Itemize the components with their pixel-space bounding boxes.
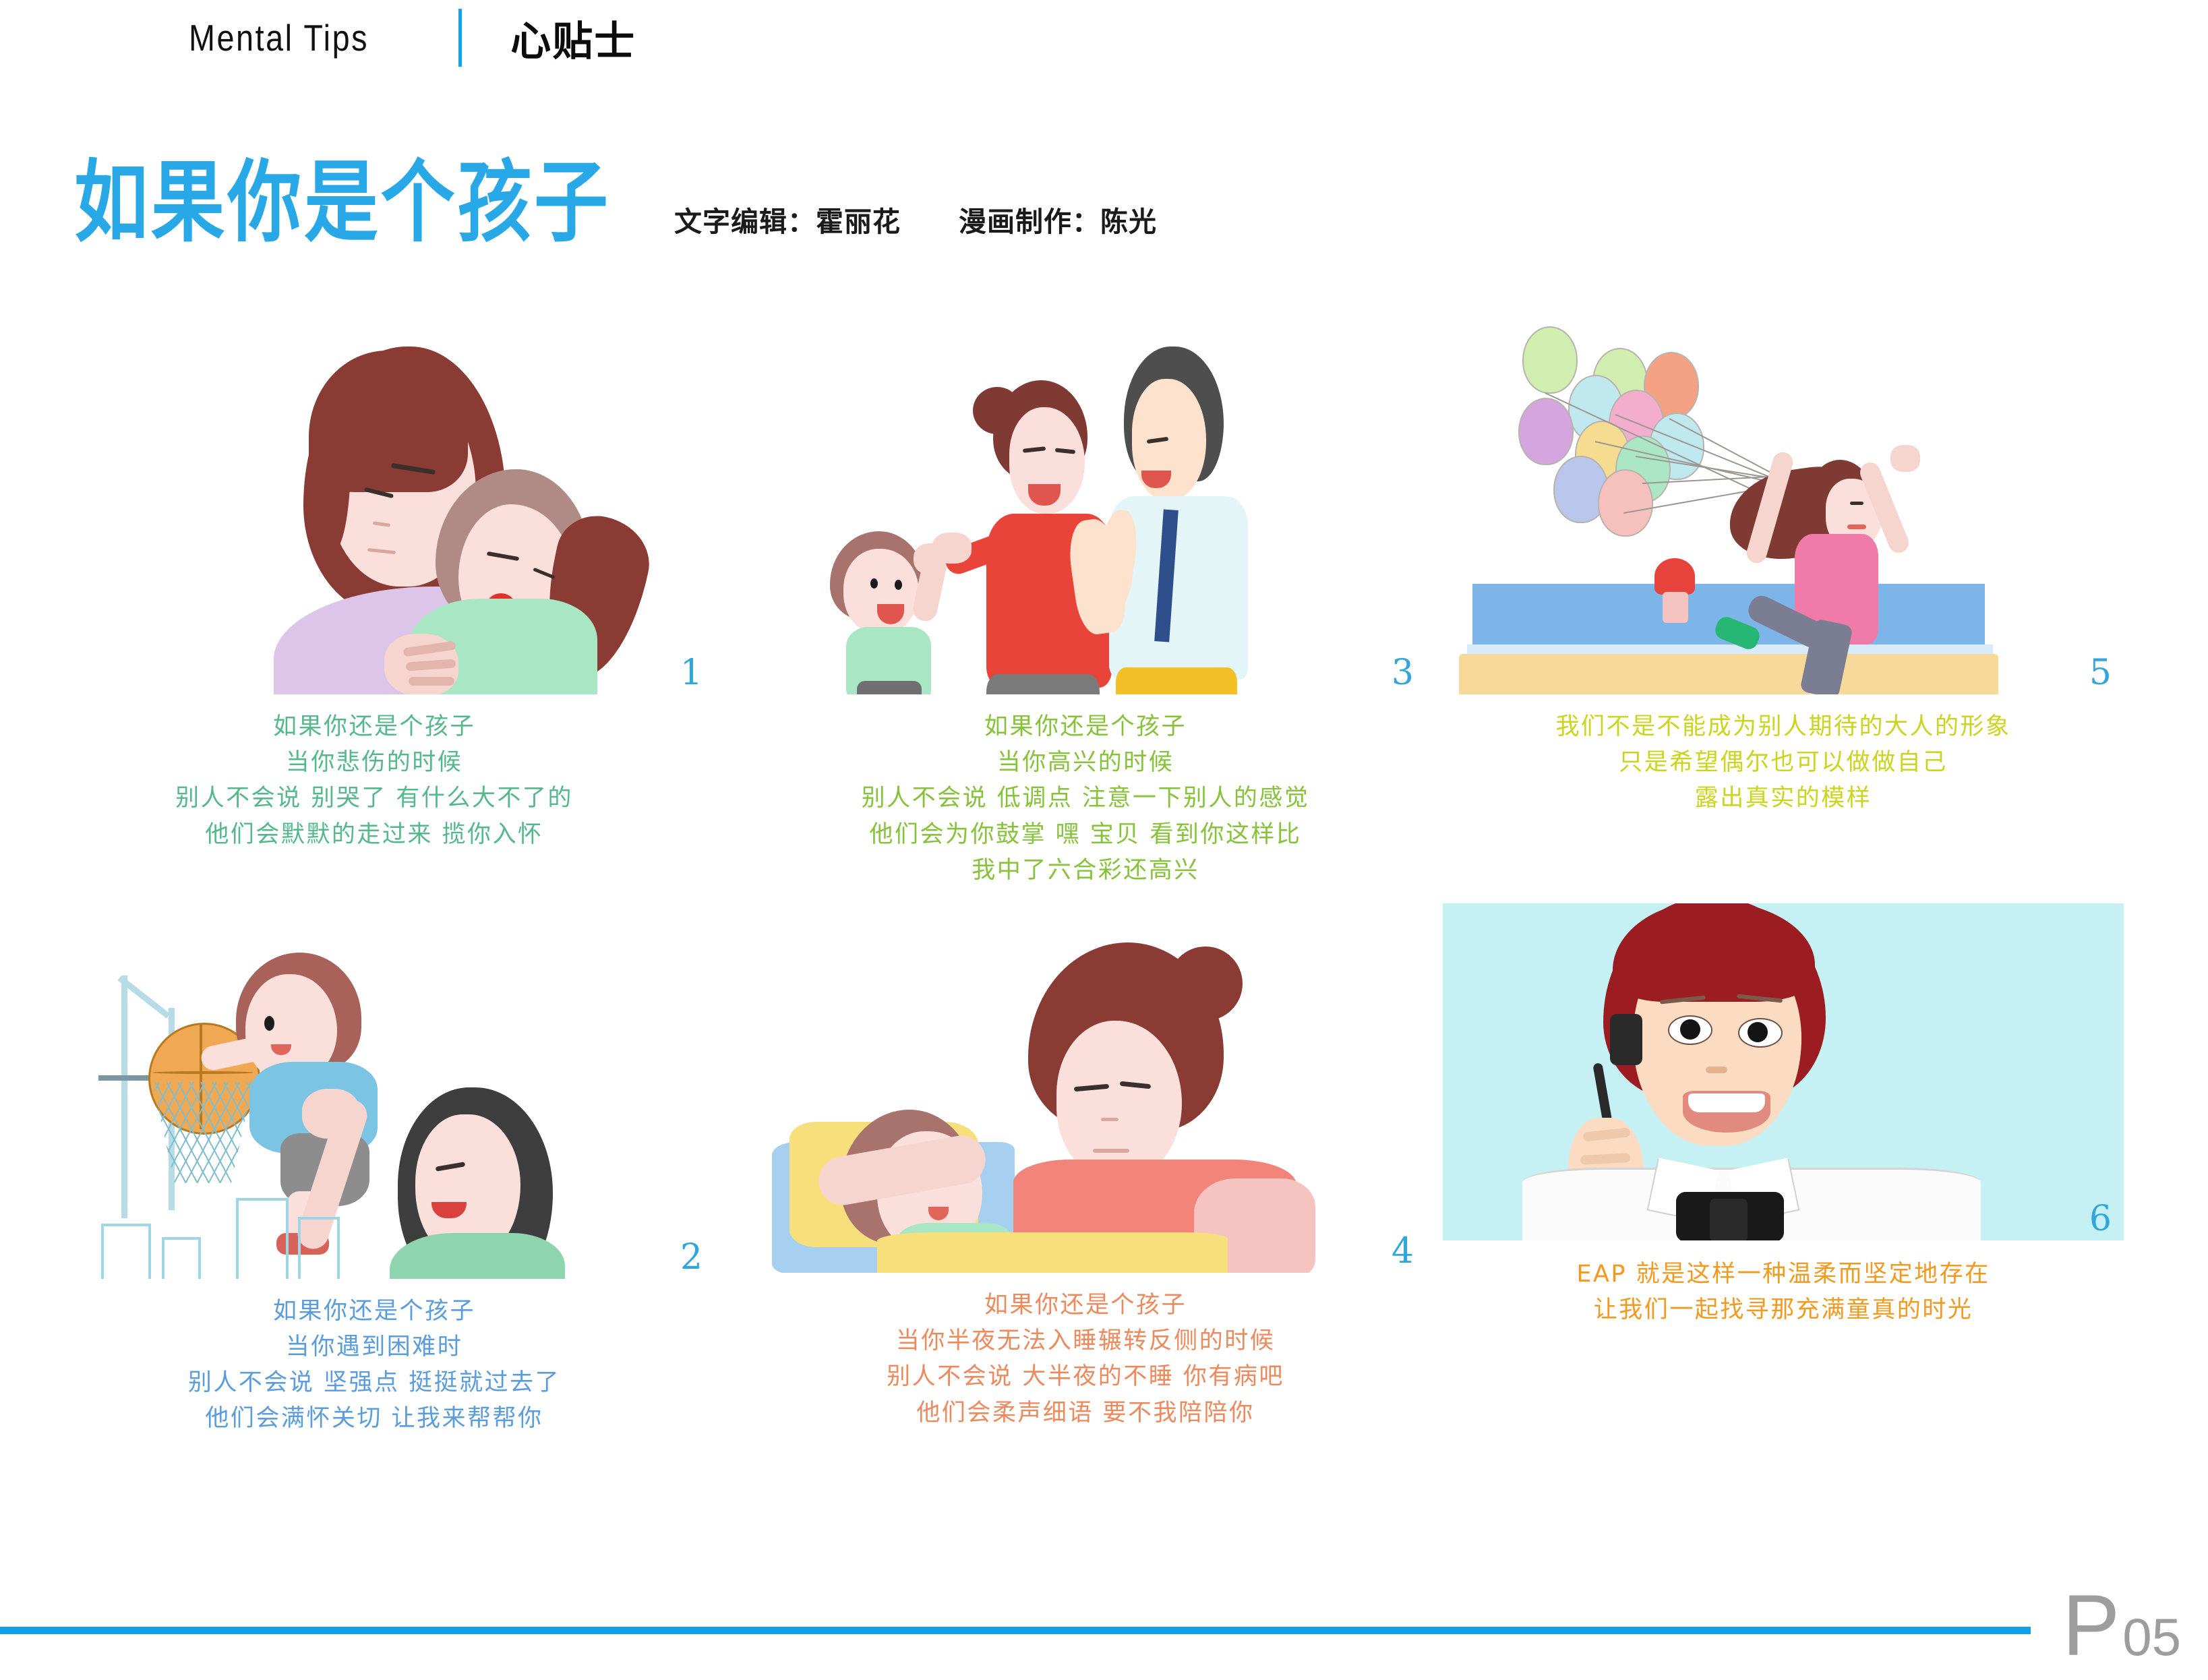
comic-panel-5: 5 我们不是不能成为别人期待的大人的形象 只是希望偶尔也可以做做自己 露出真实的… — [1443, 317, 2124, 817]
balloon — [1518, 398, 1574, 465]
caption-line: 当你高兴的时候 — [745, 745, 1426, 781]
caption-line: 露出真实的模样 — [1443, 781, 2124, 816]
comic-panel-1: 1 如果你还是个孩子 当你悲伤的时候 别人不会说 别哭了 有什么大不了的 他们会… — [34, 317, 715, 853]
comic-panel-4: 4 如果你还是个孩子 当你半夜无法入睡辗转反侧的时候 别人不会说 大半夜的不睡 … — [745, 895, 1426, 1431]
panel-3-illustration: 3 — [745, 317, 1426, 694]
caption-line: EAP 就是这样一种温柔而坚定地存在 — [1443, 1257, 2124, 1292]
caption-line: 他们会为你鼓掌 嘿 宝贝 看到你这样比 — [745, 817, 1426, 853]
panel-1-illustration: 1 — [34, 317, 715, 694]
panel-number-6: 6 — [2089, 1201, 2112, 1236]
masthead-chinese-title: 心贴士 — [510, 9, 636, 67]
panel-number-1: 1 — [680, 655, 703, 690]
byline-text-editor: 文字编辑：霍丽花 — [674, 199, 901, 239]
page-title: 如果你是个孩子 — [74, 158, 611, 247]
masthead-english-title: Mental Tips — [189, 16, 369, 59]
caption-line: 别人不会说 大半夜的不睡 你有病吧 — [745, 1359, 1426, 1395]
page-number-prefix: P — [2062, 1583, 2120, 1669]
caption-line: 如果你还是个孩子 — [745, 709, 1426, 745]
comic-panel-2: 2 如果你还是个孩子 当你遇到困难时 别人不会说 坚强点 挺挺就过去了 他们会满… — [34, 901, 715, 1437]
panel-5-illustration: 5 — [1443, 317, 2124, 694]
balloon — [1522, 326, 1578, 394]
page-number: P 05 — [2062, 1583, 2181, 1669]
caption-line: 如果你还是个孩子 — [34, 709, 715, 745]
page-number-value: 05 — [2122, 1611, 2181, 1663]
comic-column-right: 5 我们不是不能成为别人期待的大人的形象 只是希望偶尔也可以做做自己 露出真实的… — [1443, 317, 2124, 1328]
caption-line: 如果你还是个孩子 — [34, 1294, 715, 1329]
caption-line: 他们会满怀关切 让我来帮帮你 — [34, 1401, 715, 1437]
panel-6-caption: EAP 就是这样一种温柔而坚定地存在 让我们一起找寻那充满童真的时光 — [1443, 1257, 2124, 1328]
caption-line: 当你遇到困难时 — [34, 1329, 715, 1365]
panel-number-4: 4 — [1392, 1234, 1414, 1269]
byline-comic-artist: 漫画制作：陈光 — [959, 199, 1157, 239]
caption-line: 让我们一起找寻那充满童真的时光 — [1443, 1292, 2124, 1328]
panel-number-5: 5 — [2089, 655, 2112, 690]
panel-4-illustration: 4 — [745, 895, 1426, 1273]
comic-column-middle: 3 如果你还是个孩子 当你高兴的时候 别人不会说 低调点 注意一下别人的感觉 他… — [745, 317, 1426, 1431]
title-block: 如果你是个孩子 文字编辑：霍丽花 漫画制作：陈光 — [74, 172, 1157, 247]
panel-number-3: 3 — [1392, 655, 1414, 690]
footer-rule — [0, 1627, 2031, 1634]
panel-2-caption: 如果你还是个孩子 当你遇到困难时 别人不会说 坚强点 挺挺就过去了 他们会满怀关… — [34, 1294, 715, 1437]
panel-3-caption: 如果你还是个孩子 当你高兴的时候 别人不会说 低调点 注意一下别人的感觉 他们会… — [745, 709, 1426, 889]
caption-line: 我中了六合彩还高兴 — [745, 853, 1426, 889]
panel-1-caption: 如果你还是个孩子 当你悲伤的时候 别人不会说 别哭了 有什么大不了的 他们会默默… — [34, 709, 715, 853]
masthead-divider — [458, 9, 462, 67]
caption-line: 他们会默默的走过来 揽你入怀 — [34, 817, 715, 853]
caption-line: 别人不会说 低调点 注意一下别人的感觉 — [745, 781, 1426, 816]
caption-line: 他们会柔声细语 要不我陪陪你 — [745, 1396, 1426, 1431]
caption-line: 别人不会说 别哭了 有什么大不了的 — [34, 781, 715, 816]
panel-6-illustration: 6 — [1443, 903, 2124, 1240]
caption-line: 当你半夜无法入睡辗转反侧的时候 — [745, 1323, 1426, 1359]
panel-5-caption: 我们不是不能成为别人期待的大人的形象 只是希望偶尔也可以做做自己 露出真实的模样 — [1443, 709, 2124, 817]
balloon — [1598, 469, 1653, 537]
panel-number-2: 2 — [680, 1240, 703, 1275]
comic-panel-3: 3 如果你还是个孩子 当你高兴的时候 别人不会说 低调点 注意一下别人的感觉 他… — [745, 317, 1426, 889]
panel-4-caption: 如果你还是个孩子 当你半夜无法入睡辗转反侧的时候 别人不会说 大半夜的不睡 你有… — [745, 1288, 1426, 1431]
caption-line: 只是希望偶尔也可以做做自己 — [1443, 745, 2124, 781]
comic-panel-6: 6 EAP 就是这样一种温柔而坚定地存在 让我们一起找寻那充满童真的时光 — [1443, 903, 2124, 1328]
byline-group: 文字编辑：霍丽花 漫画制作：陈光 — [674, 199, 1157, 247]
caption-line: 别人不会说 坚强点 挺挺就过去了 — [34, 1365, 715, 1401]
panel-2-illustration: 2 — [34, 901, 715, 1279]
caption-line: 如果你还是个孩子 — [745, 1288, 1426, 1323]
caption-line: 当你悲伤的时候 — [34, 745, 715, 781]
masthead: Mental Tips 心贴士 — [189, 5, 636, 70]
caption-line: 我们不是不能成为别人期待的大人的形象 — [1443, 709, 2124, 745]
comic-column-left: 1 如果你还是个孩子 当你悲伤的时候 别人不会说 别哭了 有什么大不了的 他们会… — [34, 317, 715, 1437]
